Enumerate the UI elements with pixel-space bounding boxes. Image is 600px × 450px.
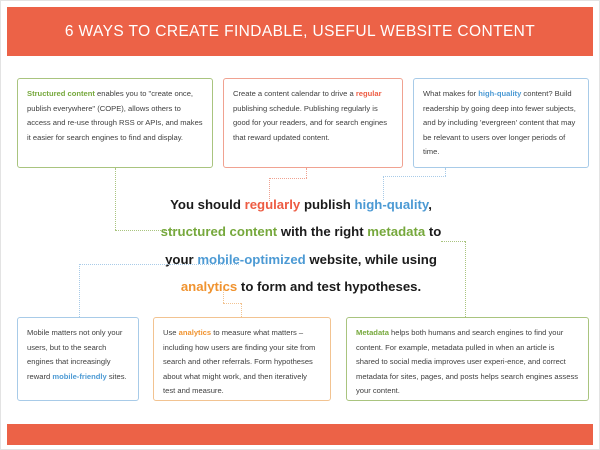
card-content-calendar: Create a content calendar to drive a reg… — [223, 78, 403, 168]
mobile-optimized-connector-vertical — [79, 264, 80, 317]
card-calendar-highlight: regular — [356, 89, 382, 98]
cs-l1-s0: You should — [170, 197, 244, 212]
card-mobile-highlight: mobile-friendly — [52, 372, 106, 381]
central-sentence-line-2: structured content with the right metada… — [91, 218, 511, 245]
high-quality-connector-horizontal — [383, 176, 446, 177]
card-quality-highlight: high-quality — [478, 89, 521, 98]
card-analytics-body: to measure what matters – including how … — [163, 328, 315, 395]
central-sentence-line-1: You should regularly publish high-qualit… — [91, 191, 511, 218]
cs-l1-s1: regularly — [245, 197, 301, 212]
cs-l3-s1: mobile-optimized — [197, 252, 305, 267]
cs-l1-s2: publish — [300, 197, 354, 212]
card-metadata: Metadata helps both humans and search en… — [346, 317, 589, 401]
central-sentence: You should regularly publish high-qualit… — [91, 191, 511, 301]
card-structured-highlight: Structured content — [27, 89, 95, 98]
cs-l4-s1: to form and test hypotheses. — [237, 279, 421, 294]
footer-bar — [7, 424, 593, 445]
card-metadata-body: helps both humans and search engines to … — [356, 328, 578, 395]
infographic-page: 6 WAYS TO CREATE FINDABLE, USEFUL WEBSIT… — [0, 0, 600, 450]
card-high-quality: What makes for high-quality content? Bui… — [413, 78, 589, 168]
cs-l2-s2: metadata — [367, 224, 425, 239]
cs-l2-s3: to — [425, 224, 441, 239]
cs-l1-s4: , — [428, 197, 432, 212]
card-quality-body: content? Build readership by going deep … — [423, 89, 576, 156]
page-title: 6 WAYS TO CREATE FINDABLE, USEFUL WEBSIT… — [65, 23, 535, 41]
card-mobile-body: sites. — [107, 372, 127, 381]
cs-l4-s0: analytics — [181, 279, 237, 294]
card-metadata-highlight: Metadata — [356, 328, 389, 337]
cs-l2-s1: with the right — [277, 224, 367, 239]
cs-l1-s3: high-quality — [355, 197, 429, 212]
card-calendar-body: publishing schedule. Publishing regularl… — [233, 104, 387, 142]
card-calendar-lead: Create a content calendar to drive a — [233, 89, 356, 98]
card-analytics-highlight: analytics — [179, 328, 212, 337]
analytics-connector-horizontal — [223, 303, 241, 304]
central-sentence-line-3: your mobile-optimized website, while usi… — [91, 246, 511, 273]
cs-l3-s2: website, while using — [306, 252, 437, 267]
regular-connector-horizontal — [269, 178, 307, 179]
card-mobile-friendly: Mobile matters not only your users, but … — [17, 317, 139, 401]
cs-l2-s0: structured content — [161, 224, 278, 239]
central-sentence-line-4: analytics to form and test hypotheses. — [91, 273, 511, 300]
card-analytics-lead: Use — [163, 328, 179, 337]
high-quality-connector-stub — [445, 168, 446, 176]
cs-l3-s0: your — [165, 252, 197, 267]
analytics-connector-vertical-2 — [241, 303, 242, 317]
regular-connector-stub — [306, 168, 307, 178]
card-quality-lead: What makes for — [423, 89, 478, 98]
header-bar: 6 WAYS TO CREATE FINDABLE, USEFUL WEBSIT… — [7, 7, 593, 56]
card-structured-content: Structured content enables you to "creat… — [17, 78, 213, 168]
card-analytics: Use analytics to measure what matters – … — [153, 317, 331, 401]
